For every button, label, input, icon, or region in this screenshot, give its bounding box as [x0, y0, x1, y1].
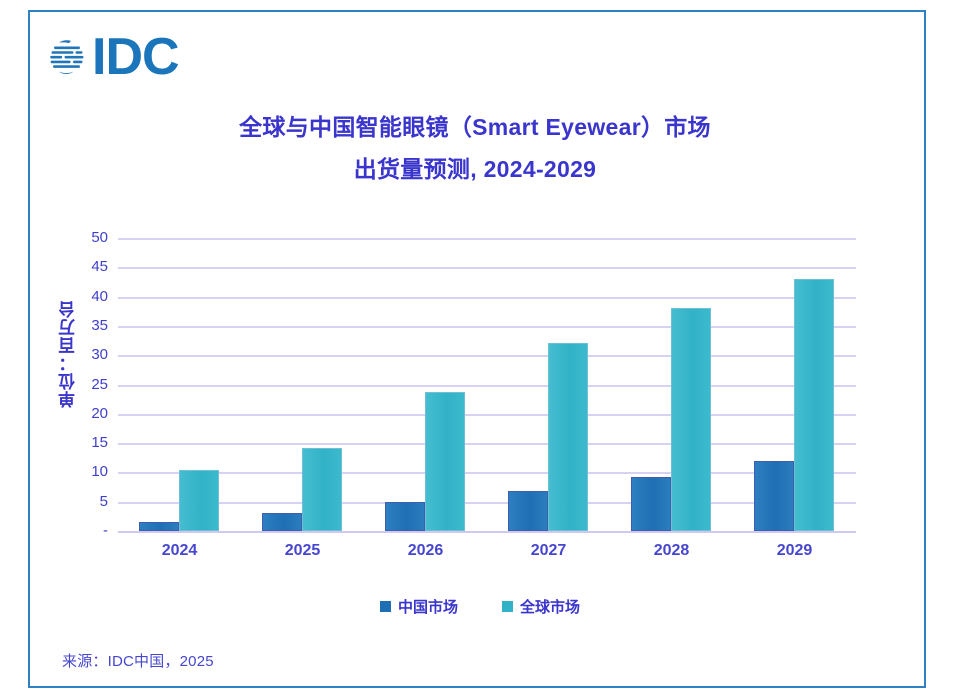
y-axis-tick-labels: 5045403530252015105- — [60, 238, 108, 531]
legend-label: 全球市场 — [520, 596, 580, 617]
bar-china-2028[interactable] — [631, 477, 671, 531]
bar-china-2026[interactable] — [385, 502, 425, 531]
bar-group — [364, 238, 487, 531]
legend-item-global[interactable]: 全球市场 — [502, 596, 580, 617]
x-axis-tick-labels: 202420252026202720282029 — [118, 542, 856, 566]
y-axis-tick-label: 35 — [60, 319, 108, 333]
bar-global-2024[interactable] — [179, 470, 219, 531]
idc-logo-text: IDC — [92, 34, 179, 80]
source-note: 来源：IDC中国，2025 — [62, 650, 214, 671]
bar-global-2029[interactable] — [794, 279, 834, 531]
axis-baseline — [118, 531, 856, 533]
y-axis-tick-label: - — [60, 524, 108, 538]
bar-global-2028[interactable] — [671, 308, 711, 531]
y-axis-tick-label: 10 — [60, 465, 108, 479]
x-axis-tick-label-2026: 2026 — [364, 542, 487, 560]
legend-swatch-icon — [502, 601, 513, 612]
y-axis-tick-label: 5 — [60, 495, 108, 509]
page-title: 全球与中国智能眼镜（Smart Eyewear）市场 出货量预测, 2024-2… — [60, 110, 890, 186]
bar-group — [118, 238, 241, 531]
x-axis-tick-label-2024: 2024 — [118, 542, 241, 560]
globe-stripes-icon — [44, 34, 90, 80]
bar-china-2027[interactable] — [508, 491, 548, 531]
x-axis-tick-label-2029: 2029 — [733, 542, 856, 560]
bar-group — [487, 238, 610, 531]
bar-global-2025[interactable] — [302, 448, 342, 531]
chart-legend: 中国市场全球市场 — [0, 596, 960, 617]
bar-group — [610, 238, 733, 531]
y-axis-tick-label: 20 — [60, 407, 108, 421]
legend-item-china[interactable]: 中国市场 — [380, 596, 458, 617]
y-axis-tick-label: 40 — [60, 290, 108, 304]
bar-global-2026[interactable] — [425, 392, 465, 531]
y-axis-tick-label: 50 — [60, 231, 108, 245]
x-axis-tick-label-2028: 2028 — [610, 542, 733, 560]
bar-china-2025[interactable] — [262, 513, 302, 531]
title-line-1: 全球与中国智能眼镜（Smart Eyewear）市场 — [60, 110, 890, 144]
bar-china-2024[interactable] — [139, 522, 179, 531]
y-axis-tick-label: 25 — [60, 378, 108, 392]
bar-group — [241, 238, 364, 531]
bars-layer — [118, 238, 856, 531]
y-axis-tick-label: 45 — [60, 260, 108, 274]
y-axis-tick-label: 30 — [60, 348, 108, 362]
legend-label: 中国市场 — [398, 596, 458, 617]
bar-global-2027[interactable] — [548, 343, 588, 531]
y-axis-tick-label: 15 — [60, 436, 108, 450]
chart-screenshot: IDC 全球与中国智能眼镜（Smart Eyewear）市场 出货量预测, 20… — [0, 0, 960, 700]
title-line-2: 出货量预测, 2024-2029 — [60, 152, 890, 186]
idc-logo: IDC — [44, 30, 179, 84]
bar-group — [733, 238, 856, 531]
x-axis-tick-label-2025: 2025 — [241, 542, 364, 560]
x-axis-tick-label-2027: 2027 — [487, 542, 610, 560]
legend-swatch-icon — [380, 601, 391, 612]
bar-china-2029[interactable] — [754, 461, 794, 531]
